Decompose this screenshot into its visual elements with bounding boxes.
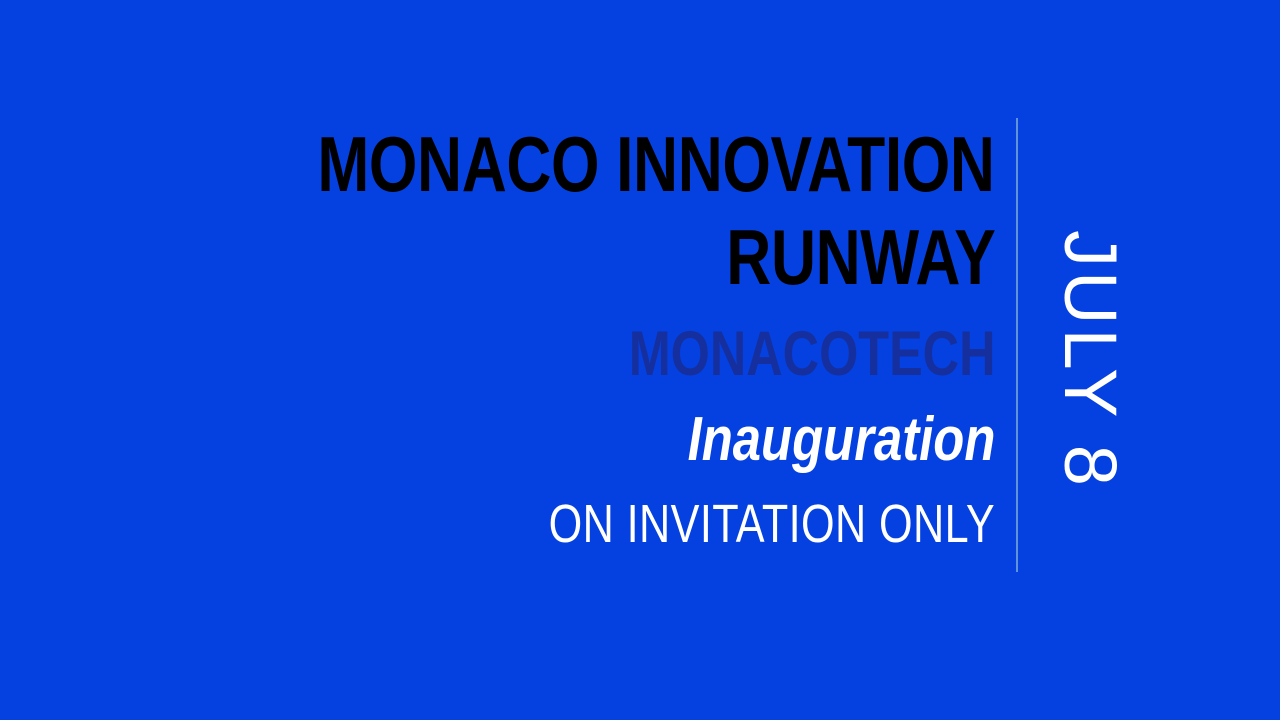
event-date: JULY 8	[1040, 250, 1140, 470]
headline-line-1: MONACO INNOVATION	[318, 125, 995, 203]
brand-name: MONACOTECH	[628, 323, 995, 386]
headline-line-2: RUNWAY	[726, 218, 995, 296]
event-date-label: JULY 8	[1053, 230, 1127, 490]
access-note: ON INVITATION ONLY	[549, 497, 995, 551]
event-name: Inauguration	[687, 409, 995, 471]
event-poster-slide: MONACO INNOVATION RUNWAY MONACOTECH Inau…	[0, 0, 1280, 720]
vertical-divider	[1016, 118, 1018, 572]
poster-text-stack: MONACO INNOVATION RUNWAY MONACOTECH Inau…	[0, 0, 995, 720]
